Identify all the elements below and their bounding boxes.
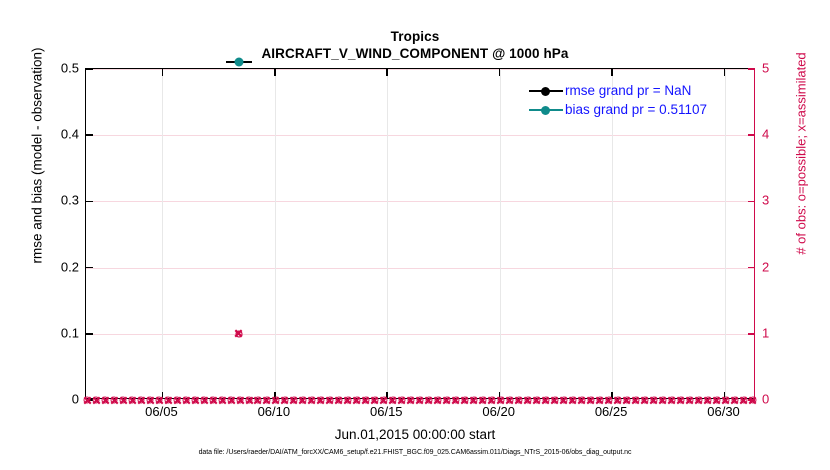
legend-label: bias grand pr = 0.51107 [563, 102, 707, 117]
x-axis-tick-top [724, 69, 726, 76]
y-axis-right-tick [748, 68, 755, 70]
legend: rmse grand pr = NaNbias grand pr = 0.511… [529, 81, 741, 119]
chart-title-variable: AIRCRAFT_V_WIND_COMPONENT @ 1000 hPa [0, 45, 830, 63]
y-axis-left-tick [86, 134, 93, 136]
x-axis-title: Jun.01,2015 00:00:00 start [0, 427, 830, 442]
legend-marker-icon [529, 103, 563, 117]
gridline-horizontal [86, 135, 754, 136]
y-axis-right-tick [748, 267, 755, 269]
y-axis-right-tick-label: 3 [762, 193, 769, 208]
legend-item[interactable]: rmse grand pr = NaN [529, 81, 741, 100]
y-axis-left-tick [86, 333, 93, 335]
gridline-horizontal [86, 334, 754, 335]
legend-item[interactable]: bias grand pr = 0.51107 [529, 100, 741, 119]
y-axis-left-tick [86, 201, 93, 203]
x-axis-tick-top [386, 69, 388, 76]
y-axis-right-tick-label: 2 [762, 259, 769, 274]
x-axis-tick-label: 06/30 [707, 404, 740, 419]
y-axis-right-tick-labels: 012345 [762, 68, 792, 399]
y-axis-right-tick [748, 134, 755, 136]
y-axis-left-tick-label: 0.2 [61, 259, 79, 274]
data-file-note: data file: /Users/raeder/DAI/ATM_forcXX/… [0, 449, 830, 456]
x-axis-tick-label: 06/25 [595, 404, 628, 419]
y-axis-right-title: # of obs: o=possible; x=assimilated [794, 4, 809, 304]
gridline-vertical [162, 69, 163, 398]
y-axis-left-tick-label: 0.5 [61, 61, 79, 76]
obs-assimilated-marker [234, 329, 243, 338]
y-axis-right-tick-label: 4 [762, 127, 769, 142]
x-axis-tick-label: 06/10 [258, 404, 291, 419]
y-axis-right-tick-label: 1 [762, 325, 769, 340]
x-axis-tick-labels: 06/0506/1006/1506/2006/2506/30 [85, 404, 755, 422]
x-axis-tick-top [162, 69, 164, 76]
x-axis-tick-label: 06/20 [482, 404, 515, 419]
y-axis-left-tick-label: 0.3 [61, 193, 79, 208]
gridline-horizontal [86, 201, 754, 202]
x-axis-tick-top [274, 69, 276, 76]
x-axis-tick-top [611, 69, 613, 76]
x-axis-tick-label: 06/05 [145, 404, 178, 419]
bias-data-point [234, 57, 243, 66]
y-axis-left-tick-label: 0 [72, 392, 79, 407]
y-axis-left-tick-label: 0.4 [61, 127, 79, 142]
y-axis-left-tick-label: 0.1 [61, 325, 79, 340]
legend-marker-icon [529, 84, 563, 98]
gridline-vertical [500, 69, 501, 398]
y-axis-left-title: rmse and bias (model - observation) [30, 6, 45, 306]
y-axis-right-tick [748, 201, 755, 203]
x-axis-tick-label: 06/15 [370, 404, 403, 419]
x-axis-tick-top [499, 69, 501, 76]
y-axis-left-tick [86, 267, 93, 269]
y-axis-right-tick-label: 5 [762, 61, 769, 76]
gridline-horizontal [86, 69, 754, 70]
y-axis-right-tick [748, 333, 755, 335]
gridline-horizontal [86, 268, 754, 269]
y-axis-right-tick-label: 0 [762, 392, 769, 407]
chart-title-block: Tropics AIRCRAFT_V_WIND_COMPONENT @ 1000… [0, 28, 830, 63]
legend-label: rmse grand pr = NaN [563, 83, 691, 98]
gridline-vertical [387, 69, 388, 398]
gridline-vertical [275, 69, 276, 398]
chart-title-region: Tropics [0, 28, 830, 45]
y-axis-left-tick [86, 68, 93, 70]
